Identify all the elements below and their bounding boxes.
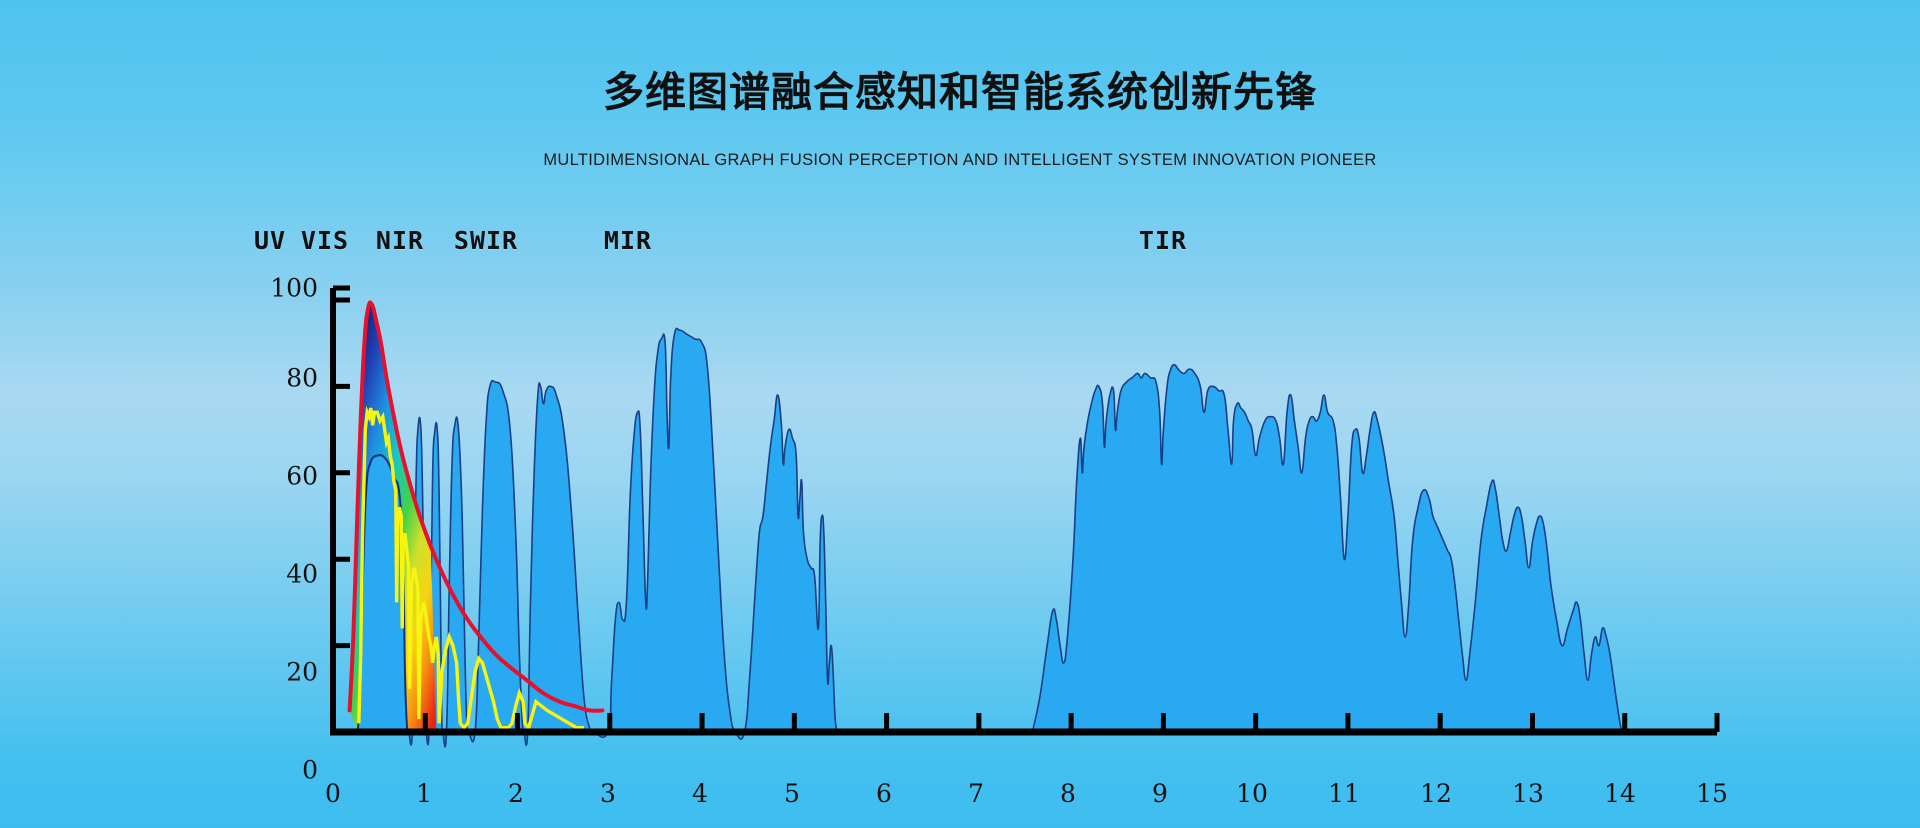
poster-canvas: 多维图谱融合感知和智能系统创新先锋 MULTIDIMENSIONAL GRAPH… [0,0,1920,828]
x-tick-9: 9 [1152,779,1168,808]
spectral-transmittance-plot [330,280,1720,770]
x-tick-1: 1 [416,779,432,808]
band-label-swir: SWIR [454,226,518,255]
y-tick-40: 40 [286,560,318,589]
y-tick-100: 100 [270,274,318,303]
x-tick-12: 12 [1420,779,1452,808]
x-tick-2: 2 [508,779,524,808]
band-label-mir: MIR [604,226,652,255]
plot-svg [330,280,1720,770]
x-tick-15: 15 [1696,779,1728,808]
x-tick-10: 10 [1236,779,1268,808]
x-tick-8: 8 [1060,779,1076,808]
x-axis-labels: 0 1 2 3 4 5 6 7 8 9 10 11 12 13 14 15 [0,779,1920,819]
x-tick-13: 13 [1512,779,1544,808]
y-tick-80: 80 [286,364,318,393]
x-tick-11: 11 [1328,779,1360,808]
x-tick-5: 5 [784,779,800,808]
transmission-windows-group [358,328,1625,746]
y-tick-60: 60 [286,462,318,491]
transmission-window [1032,365,1624,732]
band-label-nir: NIR [376,226,424,255]
x-tick-4: 4 [692,779,708,808]
y-axis-labels: 0 20 40 60 80 100 [256,0,318,828]
band-label-tir: TIR [1139,226,1187,255]
x-tick-14: 14 [1604,779,1636,808]
y-tick-20: 20 [286,658,318,687]
x-tick-0: 0 [325,779,341,808]
x-tick-6: 6 [876,779,892,808]
x-tick-7: 7 [968,779,984,808]
x-tick-3: 3 [600,779,616,808]
